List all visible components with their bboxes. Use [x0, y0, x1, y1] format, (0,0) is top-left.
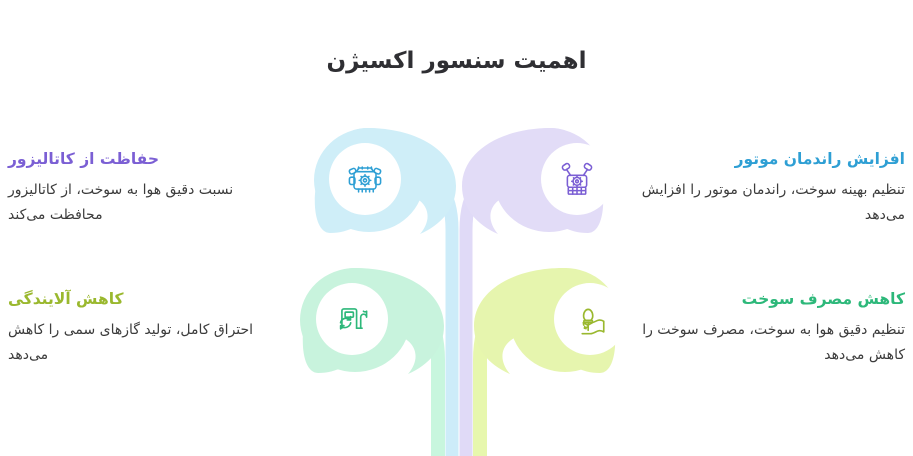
branch-fuel-heading: کاهش مصرف سوخت: [630, 288, 905, 311]
stem-catalyst: [466, 172, 513, 456]
hand-holding-plant-icon: [554, 283, 626, 355]
stem-emission: [480, 300, 528, 456]
branch-engine-body: تنظیم بهینه سوخت، راندمان موتور را افزای…: [630, 178, 905, 227]
fuel-pump-recycle-icon: [316, 283, 388, 355]
branch-emission-body: احتراق کامل، تولید گازهای سمی را کاهش می…: [8, 318, 283, 367]
page-title: اهمیت سنسور اکسیژن: [0, 48, 913, 74]
stem-fuel: [390, 300, 438, 456]
catalytic-converter-icon: [541, 143, 613, 215]
branch-fuel: کاهش مصرف سوخت تنظیم دقیق هوا به سوخت، م…: [630, 288, 905, 367]
engine-icon: [329, 143, 401, 215]
branch-fuel-body: تنظیم دقیق هوا به سوخت، مصرف سوخت را کاه…: [630, 318, 905, 367]
infographic-canvas: اهمیت سنسور اکسیژن: [0, 0, 913, 456]
branch-emission: کاهش آلایندگی احتراق کامل، تولید گازهای …: [8, 288, 283, 367]
branch-engine: افزایش راندمان موتور تنظیم بهینه سوخت، ر…: [630, 148, 905, 227]
branch-engine-heading: افزایش راندمان موتور: [630, 148, 905, 171]
stem-engine: [405, 172, 452, 456]
branch-emission-heading: کاهش آلایندگی: [8, 288, 283, 311]
branch-catalyst-heading: حفاظت از کاتالیزور: [8, 148, 283, 171]
branch-catalyst: حفاظت از کاتالیزور نسبت دقیق هوا به سوخت…: [8, 148, 283, 227]
branch-catalyst-body: نسبت دقیق هوا به سوخت، از کاتالیزور محاف…: [8, 178, 283, 227]
